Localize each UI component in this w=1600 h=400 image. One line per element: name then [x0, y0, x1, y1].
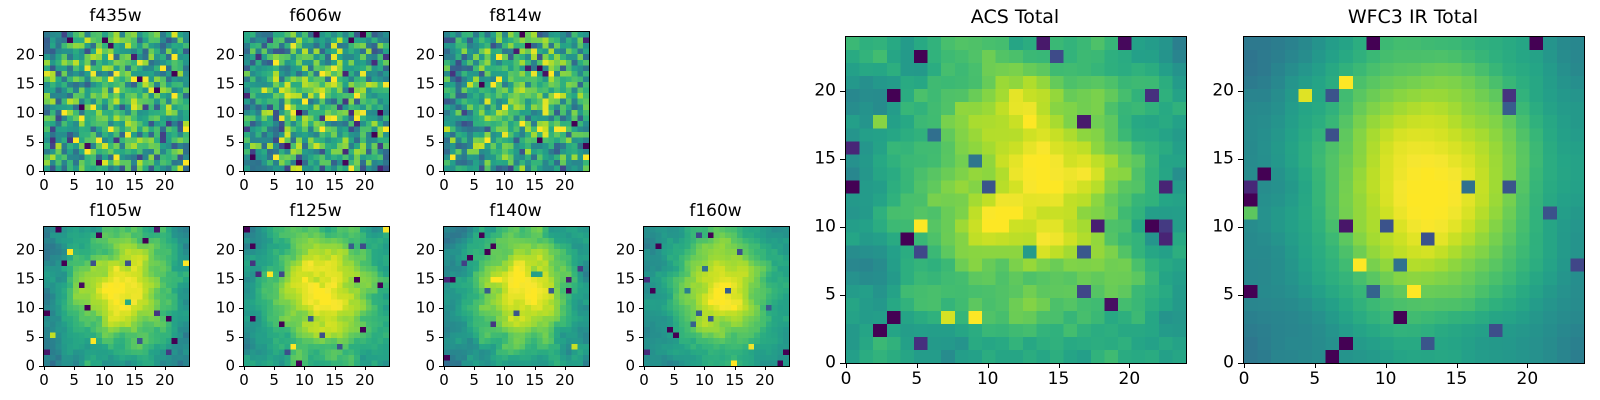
- panel-wfc3-ir-total: WFC3 IR Total0510152005101520: [0, 0, 1600, 400]
- ytick-label-wfc3-ir-total-0: 0: [1223, 355, 1234, 372]
- heatmap-f160w[interactable]: [643, 226, 790, 367]
- xtick-label-f160w-20: 20: [755, 373, 774, 388]
- ytick-label-f606w-5: 5: [225, 135, 235, 150]
- xtick-label-f435w-0: 0: [39, 178, 49, 193]
- heatmap-canvas-f160w: [644, 227, 789, 366]
- ytick-label-f435w-0: 0: [25, 164, 35, 179]
- panel-title-f435w: f435w: [43, 6, 188, 26]
- xtick-label-wfc3-ir-total-20: 20: [1517, 371, 1539, 388]
- ytick-label-acs-total-15: 15: [814, 151, 836, 168]
- ytick-label-wfc3-ir-total-5: 5: [1223, 287, 1234, 304]
- ytick-label-f125w-15: 15: [216, 272, 235, 287]
- xtick-label-f125w-5: 5: [269, 373, 279, 388]
- ytick-label-f160w-10: 10: [616, 301, 635, 316]
- heatmap-acs-total[interactable]: [845, 36, 1187, 364]
- ytick-label-wfc3-ir-total-15: 15: [1212, 151, 1234, 168]
- panel-title-acs-total: ACS Total: [845, 6, 1185, 28]
- xtick-label-f606w-20: 20: [355, 178, 374, 193]
- xtick-label-acs-total-0: 0: [841, 371, 852, 388]
- panel-title-f160w: f160w: [643, 201, 788, 221]
- xtick-label-f814w-15: 15: [525, 178, 544, 193]
- ytick-label-f814w-0: 0: [425, 164, 435, 179]
- ytick-label-acs-total-10: 10: [814, 219, 836, 236]
- ytick-label-f814w-15: 15: [416, 77, 435, 92]
- xtick-label-f435w-15: 15: [125, 178, 144, 193]
- ytick-label-f105w-15: 15: [16, 272, 35, 287]
- ytick-label-f606w-15: 15: [216, 77, 235, 92]
- xtick-label-f140w-15: 15: [525, 373, 544, 388]
- ytick-label-f814w-20: 20: [416, 48, 435, 63]
- xtick-label-f125w-15: 15: [325, 373, 344, 388]
- xtick-label-acs-total-15: 15: [1048, 371, 1070, 388]
- xtick-label-f140w-0: 0: [439, 373, 449, 388]
- xtick-label-f435w-5: 5: [69, 178, 79, 193]
- heatmap-canvas-f105w: [44, 227, 189, 366]
- xtick-label-wfc3-ir-total-0: 0: [1239, 371, 1250, 388]
- ytick-label-f814w-10: 10: [416, 106, 435, 121]
- heatmap-canvas-wfc3-ir-total: [1244, 37, 1584, 363]
- ytick-label-f606w-20: 20: [216, 48, 235, 63]
- xtick-label-f160w-15: 15: [725, 373, 744, 388]
- xtick-label-f160w-5: 5: [669, 373, 679, 388]
- xtick-label-f125w-0: 0: [239, 373, 249, 388]
- heatmap-canvas-f814w: [444, 32, 589, 171]
- heatmap-wfc3-ir-total[interactable]: [1243, 36, 1585, 364]
- xtick-label-f606w-0: 0: [239, 178, 249, 193]
- ytick-label-f435w-15: 15: [16, 77, 35, 92]
- xtick-label-f105w-5: 5: [69, 373, 79, 388]
- xtick-label-f105w-0: 0: [39, 373, 49, 388]
- xtick-label-f606w-10: 10: [295, 178, 314, 193]
- heatmap-f606w[interactable]: [243, 31, 390, 172]
- xtick-label-f105w-20: 20: [155, 373, 174, 388]
- ytick-label-f435w-10: 10: [16, 106, 35, 121]
- heatmap-canvas-f435w: [44, 32, 189, 171]
- xtick-label-f814w-10: 10: [495, 178, 514, 193]
- xtick-label-f435w-10: 10: [95, 178, 114, 193]
- xtick-label-f160w-10: 10: [695, 373, 714, 388]
- heatmap-f125w[interactable]: [243, 226, 390, 367]
- ytick-label-f160w-5: 5: [625, 330, 635, 345]
- ytick-label-f140w-0: 0: [425, 359, 435, 374]
- ytick-label-f125w-5: 5: [225, 330, 235, 345]
- xtick-label-f160w-0: 0: [639, 373, 649, 388]
- ytick-label-f606w-0: 0: [225, 164, 235, 179]
- ytick-label-f105w-10: 10: [16, 301, 35, 316]
- xtick-label-acs-total-20: 20: [1119, 371, 1141, 388]
- ytick-label-f435w-20: 20: [16, 48, 35, 63]
- ytick-label-f125w-0: 0: [225, 359, 235, 374]
- panel-title-wfc3-ir-total: WFC3 IR Total: [1243, 6, 1583, 28]
- ytick-label-f814w-5: 5: [425, 135, 435, 150]
- heatmap-f105w[interactable]: [43, 226, 190, 367]
- xtick-label-f814w-20: 20: [555, 178, 574, 193]
- ytick-label-acs-total-20: 20: [814, 83, 836, 100]
- xtick-label-f606w-15: 15: [325, 178, 344, 193]
- ytick-label-f105w-20: 20: [16, 243, 35, 258]
- ytick-label-wfc3-ir-total-20: 20: [1212, 83, 1234, 100]
- xtick-label-f105w-15: 15: [125, 373, 144, 388]
- ytick-label-acs-total-5: 5: [825, 287, 836, 304]
- heatmap-canvas-f606w: [244, 32, 389, 171]
- panel-title-f140w: f140w: [443, 201, 588, 221]
- panel-title-f814w: f814w: [443, 6, 588, 26]
- ytick-label-f140w-10: 10: [416, 301, 435, 316]
- xtick-label-acs-total-10: 10: [977, 371, 999, 388]
- xtick-label-f125w-20: 20: [355, 373, 374, 388]
- xtick-label-wfc3-ir-total-5: 5: [1309, 371, 1320, 388]
- ytick-label-f435w-5: 5: [25, 135, 35, 150]
- xtick-label-acs-total-5: 5: [911, 371, 922, 388]
- ytick-label-f160w-15: 15: [616, 272, 635, 287]
- ytick-label-wfc3-ir-total-10: 10: [1212, 219, 1234, 236]
- xtick-label-f105w-10: 10: [95, 373, 114, 388]
- ytick-label-f140w-20: 20: [416, 243, 435, 258]
- ytick-label-f606w-10: 10: [216, 106, 235, 121]
- xtick-label-wfc3-ir-total-15: 15: [1446, 371, 1468, 388]
- ytick-label-f140w-15: 15: [416, 272, 435, 287]
- ytick-label-f105w-5: 5: [25, 330, 35, 345]
- panel-title-f125w: f125w: [243, 201, 388, 221]
- ytick-label-f160w-20: 20: [616, 243, 635, 258]
- heatmap-f435w[interactable]: [43, 31, 190, 172]
- ytick-label-f105w-0: 0: [25, 359, 35, 374]
- ytick-label-f125w-20: 20: [216, 243, 235, 258]
- heatmap-canvas-f125w: [244, 227, 389, 366]
- heatmap-f140w[interactable]: [443, 226, 590, 367]
- xtick-label-f125w-10: 10: [295, 373, 314, 388]
- ytick-label-f140w-5: 5: [425, 330, 435, 345]
- xtick-label-f140w-5: 5: [469, 373, 479, 388]
- heatmap-canvas-acs-total: [846, 37, 1186, 363]
- xtick-label-f435w-20: 20: [155, 178, 174, 193]
- xtick-label-wfc3-ir-total-10: 10: [1375, 371, 1397, 388]
- heatmap-f814w[interactable]: [443, 31, 590, 172]
- xtick-label-f814w-0: 0: [439, 178, 449, 193]
- xtick-label-f140w-10: 10: [495, 373, 514, 388]
- panel-title-f606w: f606w: [243, 6, 388, 26]
- panel-title-f105w: f105w: [43, 201, 188, 221]
- xtick-label-f814w-5: 5: [469, 178, 479, 193]
- heatmap-canvas-f140w: [444, 227, 589, 366]
- xtick-label-f140w-20: 20: [555, 373, 574, 388]
- ytick-label-f160w-0: 0: [625, 359, 635, 374]
- ytick-label-acs-total-0: 0: [825, 355, 836, 372]
- ytick-label-f125w-10: 10: [216, 301, 235, 316]
- xtick-label-f606w-5: 5: [269, 178, 279, 193]
